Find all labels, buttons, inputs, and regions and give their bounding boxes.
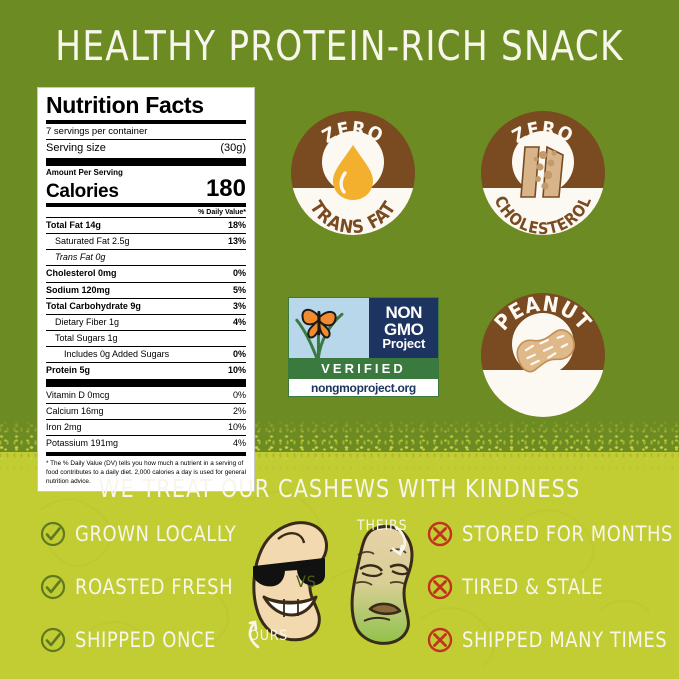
divider [46, 403, 246, 404]
nutrient-name: Total Carbohydrate 9g [46, 300, 141, 313]
badge-bottom-text: CHOLESTEROL [491, 193, 596, 235]
badge-peanut-graphics: PEANUT FREE [481, 293, 605, 417]
nutrient-name: Total Fat 14g [46, 219, 101, 232]
micronutrient-name: Calcium 16mg [46, 405, 104, 418]
con-item: Shipped many times [427, 626, 679, 654]
nutrient-daily-value: 13% [228, 235, 246, 248]
nutrient-daily-value: 18% [228, 219, 246, 232]
badge-cholesterol-graphics: ZERO CHOLESTEROL [481, 111, 605, 235]
divider [46, 419, 246, 420]
con-label: Stored for months [462, 522, 673, 546]
pro-label: roasted fresh [75, 575, 233, 599]
butterfly-scene [289, 298, 369, 358]
divider [46, 298, 246, 299]
badge-bottom-text: FREE [514, 388, 573, 417]
nutrient-row: Total Fat 14g18% [46, 219, 246, 232]
micronutrient-daily-value: 0% [233, 389, 246, 402]
nutrient-row: Total Sugars 1g [46, 332, 246, 345]
badge-peanut-free: PEANUT FREE [481, 293, 605, 417]
cons-list: Stored for monthstired & staleShipped ma… [427, 520, 679, 679]
badge-top-text: ZERO [509, 118, 577, 148]
nutrient-daily-value: 0% [233, 348, 246, 361]
non-gmo-verified-bar: VERIFIED [289, 358, 438, 379]
nutrient-daily-value: 0% [233, 267, 246, 280]
serving-size-label: Serving size [46, 141, 106, 155]
nutrient-row: Sodium 120mg5% [46, 284, 246, 297]
pros-list: Grown locallyroasted freshshipped once [40, 520, 245, 679]
pro-label: shipped once [75, 628, 216, 652]
badge-trans-fat-graphics: ZERO TRANS FAT [291, 111, 415, 235]
nutrient-row: Protein 5g10% [46, 364, 246, 377]
label-ours: ours [249, 628, 288, 644]
micronutrient-daily-value: 2% [233, 405, 246, 418]
badge-zero-cholesterol: ZERO CHOLESTEROL [481, 111, 605, 235]
micronutrient-row: Vitamin D 0mcg0% [46, 389, 246, 402]
divider [46, 282, 246, 283]
nutrient-name: Trans Fat 0g [46, 251, 105, 264]
divider [46, 314, 246, 315]
badge-top-text: ZERO [319, 118, 387, 148]
peanut-icon [514, 327, 579, 374]
nutrient-name: Saturated Fat 2.5g [46, 235, 130, 248]
product-infographic: Healthy protein-rich snack Nutrition Fac… [0, 0, 679, 679]
nutrient-rows: Total Fat 14g18%Saturated Fat 2.5g13%Tra… [46, 219, 246, 376]
divider [46, 362, 246, 363]
check-circle-icon [40, 574, 66, 600]
nutrient-row: Trans Fat 0g [46, 251, 246, 264]
divider [46, 346, 246, 347]
pro-item: Grown locally [40, 520, 245, 548]
oil-droplet-icon [333, 145, 373, 200]
non-gmo-text-block: NON GMO Project [369, 298, 438, 358]
nutrient-row: Cholesterol 0mg0% [46, 267, 246, 280]
divider [46, 233, 246, 234]
divider [46, 330, 246, 331]
micronutrient-rows: Vitamin D 0mcg0%Calcium 16mg2%Iron 2mg10… [46, 389, 246, 450]
nutrient-daily-value: 3% [233, 300, 246, 313]
calories-row: Calories 180 [46, 177, 246, 201]
nutrient-row: Includes 0g Added Sugars0% [46, 348, 246, 361]
non-gmo-url: nongmoproject.org [289, 379, 438, 396]
micronutrient-row: Calcium 16mg2% [46, 405, 246, 418]
artery-icon [521, 147, 563, 197]
divider [46, 249, 246, 250]
nutrient-row: Dietary Fiber 1g4% [46, 316, 246, 329]
con-item: Stored for months [427, 520, 679, 548]
nutrient-daily-value: 10% [228, 364, 246, 377]
calories-label: Calories [46, 182, 119, 201]
serving-size-row: Serving size (30g) [46, 141, 246, 155]
micronutrient-row: Iron 2mg10% [46, 421, 246, 434]
micronutrient-name: Vitamin D 0mcg [46, 389, 109, 402]
nutrient-name: Protein 5g [46, 364, 90, 377]
con-label: tired & stale [462, 575, 603, 599]
nutrition-facts-title: Nutrition Facts [46, 94, 246, 118]
butterfly-icon [302, 310, 335, 338]
serving-size-value: (30g) [220, 141, 246, 155]
nutrient-row: Saturated Fat 2.5g13% [46, 235, 246, 248]
nutrient-name: Total Sugars 1g [46, 332, 118, 345]
badge-bottom-text: TRANS FAT [305, 197, 400, 235]
micronutrient-daily-value: 4% [233, 437, 246, 450]
check-circle-icon [40, 521, 66, 547]
pro-label: Grown locally [75, 522, 236, 546]
divider [46, 435, 246, 436]
nutrient-name: Cholesterol 0mg [46, 267, 117, 280]
divider [46, 265, 246, 266]
calories-value: 180 [206, 177, 246, 201]
nutrient-daily-value: 5% [233, 284, 246, 297]
badge-top-text: PEANUT [490, 293, 596, 335]
con-item: tired & stale [427, 573, 679, 601]
micronutrient-name: Potassium 191mg [46, 437, 118, 450]
micronutrient-name: Iron 2mg [46, 421, 82, 434]
nutrient-name: Sodium 120mg [46, 284, 110, 297]
nutrition-facts-panel: Nutrition Facts 7 servings per container… [37, 87, 255, 492]
nutrient-row: Total Carbohydrate 9g3% [46, 300, 246, 313]
non-gmo-line3: Project [382, 338, 425, 351]
comparison-heading: We treat our cashews with kindness [24, 474, 655, 503]
pro-item: roasted fresh [40, 573, 245, 601]
micronutrient-daily-value: 10% [228, 421, 246, 434]
nutrient-daily-value: 4% [233, 316, 246, 329]
nutrient-name: Includes 0g Added Sugars [46, 348, 169, 361]
page-title: Healthy protein-rich snack [24, 22, 655, 70]
cashew-theirs-character [352, 527, 412, 644]
daily-value-header: % Daily Value* [46, 209, 246, 216]
label-vs: vs [296, 572, 317, 591]
check-circle-icon [40, 627, 66, 653]
non-gmo-project-logo: NON GMO Project VERIFIED nongmoproject.o… [288, 297, 439, 397]
pro-item: shipped once [40, 626, 245, 654]
badge-zero-trans-fat: ZERO TRANS FAT [291, 111, 415, 235]
micronutrient-row: Potassium 191mg4% [46, 437, 246, 450]
label-theirs: theirs [357, 518, 407, 534]
nutrient-name: Dietary Fiber 1g [46, 316, 119, 329]
servings-per-container: 7 servings per container [46, 126, 246, 139]
con-label: Shipped many times [462, 628, 667, 652]
